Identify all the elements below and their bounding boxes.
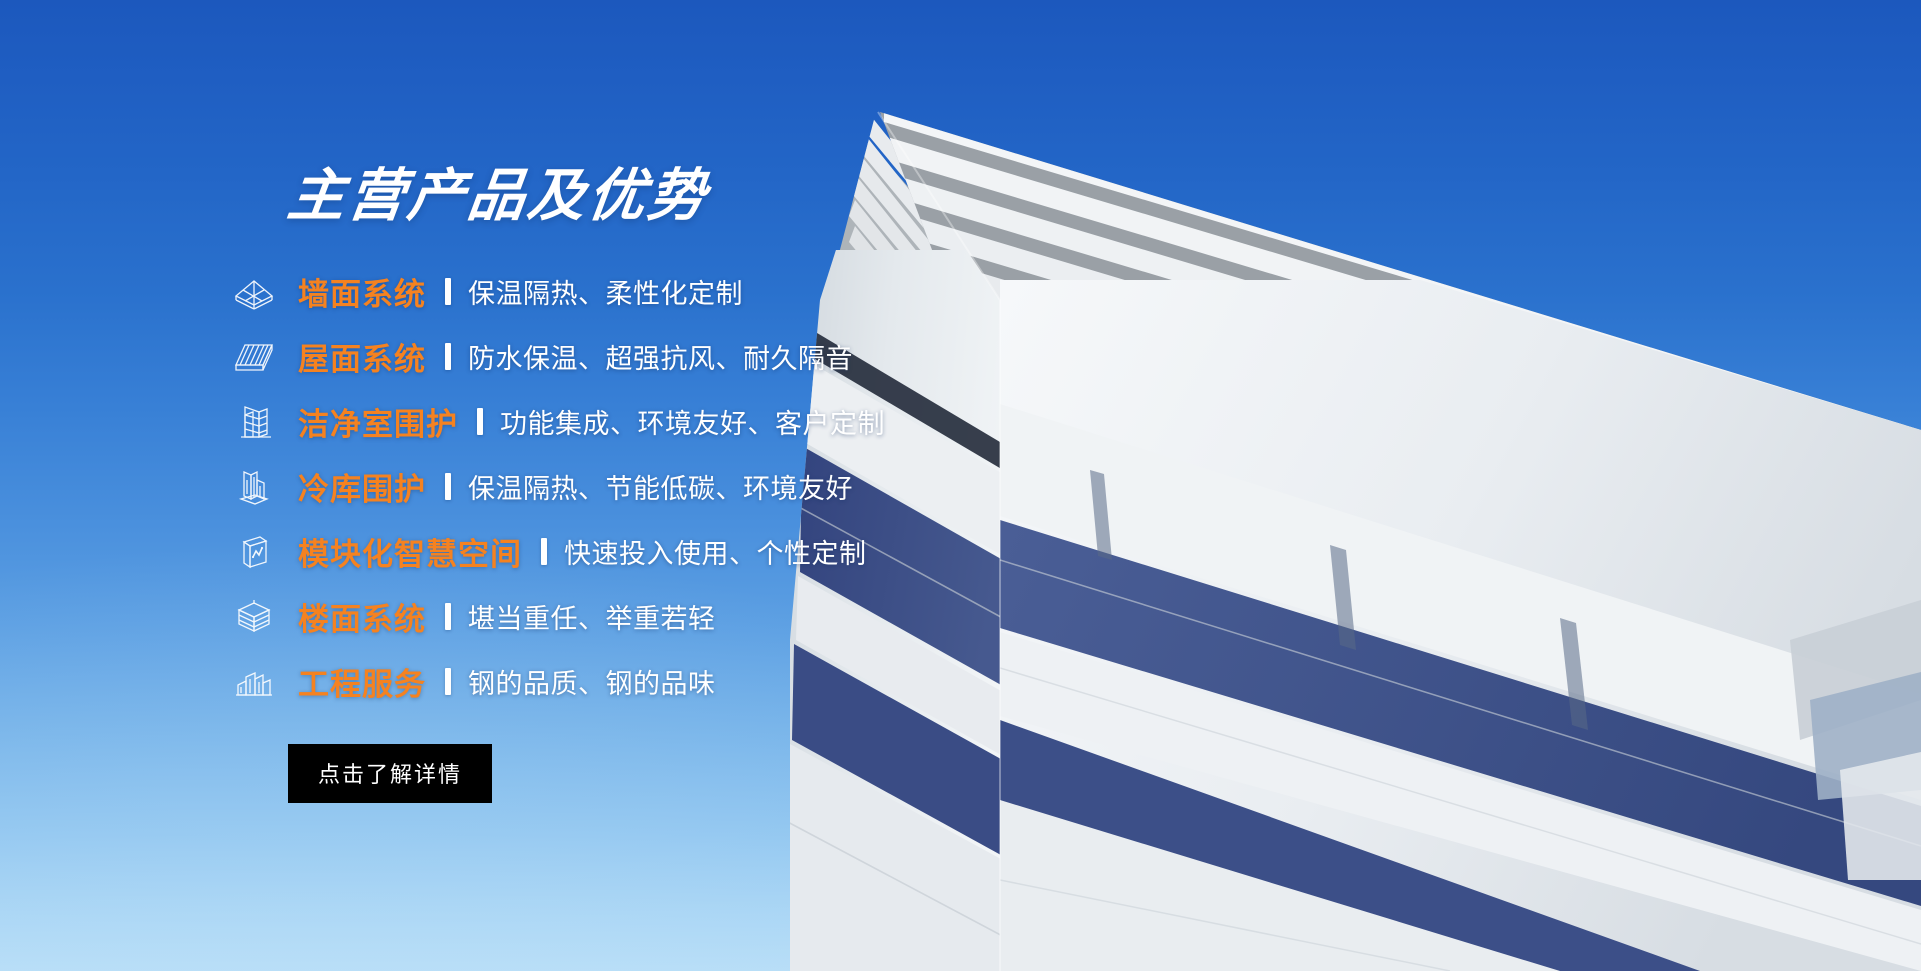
engineering-service-buildings-icon (232, 662, 276, 702)
floor-deck-cube-icon (232, 597, 276, 637)
divider-bar (445, 278, 451, 305)
product-description: 保温隔热、节能低碳、环境友好 (468, 467, 853, 506)
product-name: 工程服务 (298, 659, 426, 704)
product-description: 防水保温、超强抗风、耐久隔音 (468, 337, 853, 376)
list-item[interactable]: 屋面系统 防水保温、超强抗风、耐久隔音 (232, 324, 992, 389)
page-title: 主营产品及优势 (285, 168, 996, 225)
banner-content: 主营产品及优势 墙面系统 保温隔热、柔性化定制 (232, 168, 992, 803)
list-item[interactable]: 楼面系统 堪当重任、举重若轻 (232, 584, 992, 649)
product-name: 屋面系统 (298, 334, 426, 379)
list-item[interactable]: 模块化智慧空间 快速投入使用、个性定制 (232, 519, 992, 584)
cleanroom-building-wireframe-icon (232, 402, 276, 442)
list-item[interactable]: 工程服务 钢的品质、钢的品味 (232, 649, 992, 714)
divider-bar (445, 473, 451, 500)
divider-bar (477, 408, 483, 435)
list-item[interactable]: 冷库围护 保温隔热、节能低碳、环境友好 (232, 454, 992, 519)
product-name: 洁净室围护 (298, 399, 458, 444)
product-name: 楼面系统 (298, 594, 426, 639)
modular-smart-space-cube-icon (232, 532, 276, 572)
product-name: 墙面系统 (298, 269, 426, 314)
divider-bar (445, 668, 451, 695)
product-description: 功能集成、环境友好、客户定制 (500, 402, 885, 441)
building-face-right (1000, 280, 1921, 971)
divider-bar (445, 603, 451, 630)
product-description: 堪当重任、举重若轻 (468, 597, 716, 636)
list-item[interactable]: 洁净室围护 功能集成、环境友好、客户定制 (232, 389, 992, 454)
product-description: 保温隔热、柔性化定制 (468, 272, 743, 311)
wall-panel-wireframe-icon (232, 272, 276, 312)
product-list: 墙面系统 保温隔热、柔性化定制 (232, 259, 992, 714)
promo-banner: 主营产品及优势 墙面系统 保温隔热、柔性化定制 (0, 0, 1921, 971)
product-description: 钢的品质、钢的品味 (468, 662, 716, 701)
divider-bar (445, 343, 451, 370)
roof-panel-wireframe-icon (232, 337, 276, 377)
cold-storage-wireframe-icon (232, 467, 276, 507)
learn-more-button[interactable]: 点击了解详情 (288, 744, 492, 803)
list-item[interactable]: 墙面系统 保温隔热、柔性化定制 (232, 259, 992, 324)
divider-bar (541, 538, 547, 565)
product-name: 模块化智慧空间 (298, 529, 522, 574)
product-description: 快速投入使用、个性定制 (564, 532, 867, 571)
product-name: 冷库围护 (298, 464, 426, 509)
